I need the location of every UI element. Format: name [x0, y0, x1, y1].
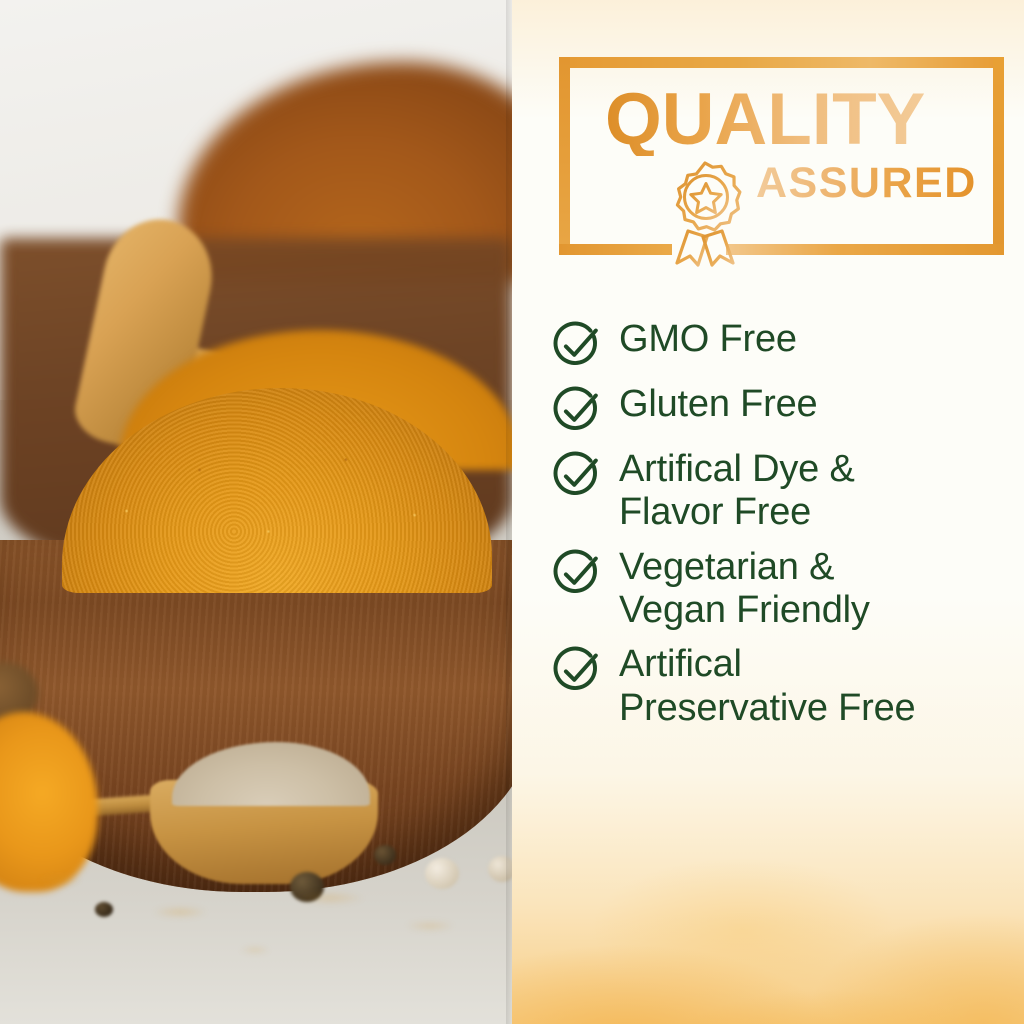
check-circle-icon [550, 318, 604, 372]
badge-frame-top [559, 57, 1004, 68]
badge-title: QUALITY [605, 83, 925, 156]
list-item: Vegetarian & Vegan Friendly [550, 544, 1016, 633]
quality-assured-badge: QUALITY ASSURED [559, 57, 1004, 255]
badge-frame-bottom-right [726, 244, 1004, 255]
feature-label: Vegetarian & Vegan Friendly [619, 544, 870, 633]
list-item: Artifical Dye & Flavor Free [550, 446, 1016, 535]
award-ribbon-star-badge-icon [655, 157, 755, 269]
list-item: Gluten Free [550, 381, 1016, 437]
info-panel: QUALITY ASSURED [512, 0, 1024, 1024]
product-photo [0, 0, 512, 1024]
check-circle-icon [550, 448, 604, 502]
product-infographic-canvas: QUALITY ASSURED [0, 0, 1024, 1024]
list-item: Artifical Preservative Free [550, 641, 1016, 730]
check-circle-icon [550, 383, 604, 437]
feature-label: GMO Free [619, 316, 797, 361]
list-item: GMO Free [550, 316, 1016, 372]
feature-label: Artifical Preservative Free [619, 641, 915, 730]
check-circle-icon [550, 546, 604, 600]
photo-scattered-turmeric-dust [0, 840, 512, 1024]
badge-frame-left [559, 57, 570, 255]
badge-frame-right [993, 57, 1004, 255]
check-circle-icon [550, 643, 604, 697]
feature-checklist: GMO Free Gluten Free A [550, 316, 1016, 739]
feature-label: Artifical Dye & Flavor Free [619, 446, 855, 535]
badge-subtitle: ASSURED [756, 162, 977, 205]
feature-label: Gluten Free [619, 381, 817, 426]
